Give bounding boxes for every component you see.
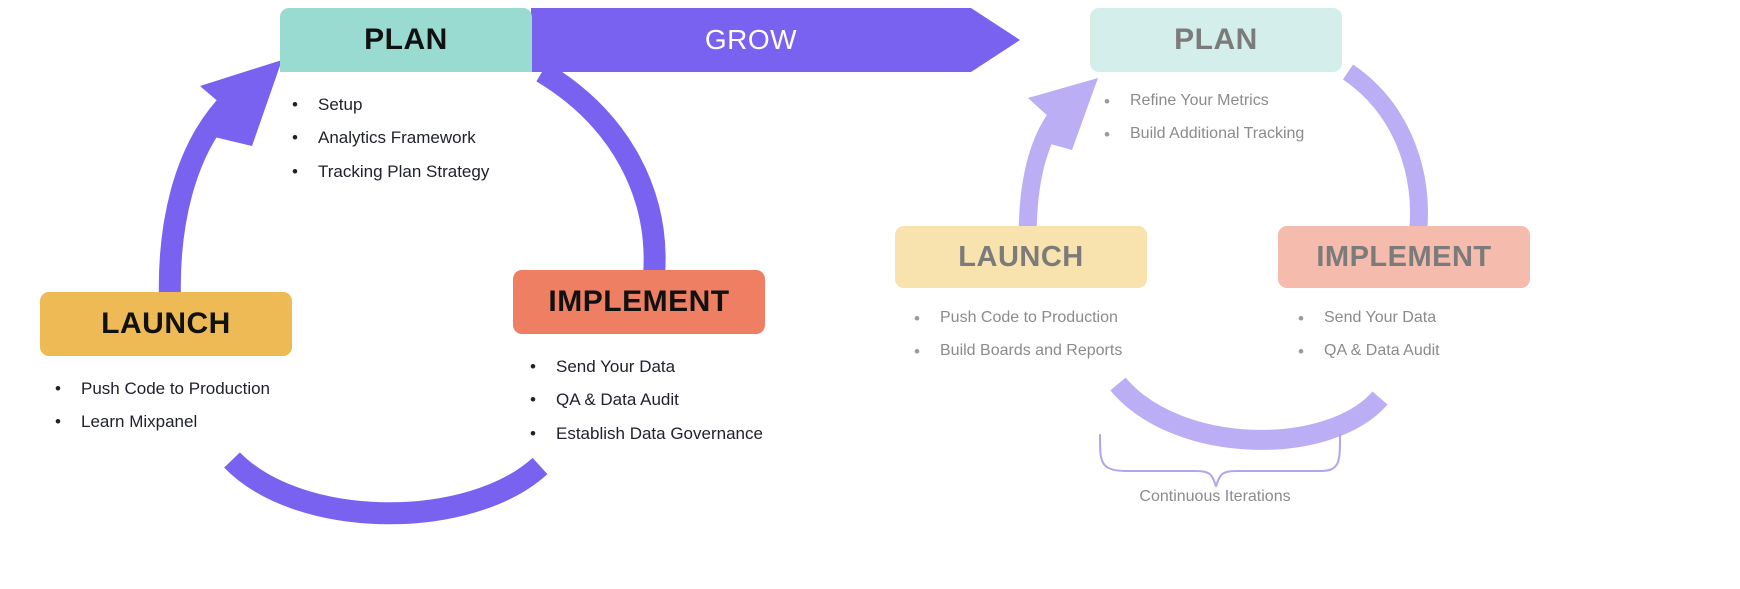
bullet-icon: • [1104, 91, 1130, 112]
bullet-icon: • [914, 341, 940, 362]
list-item: • Refine Your Metrics [1104, 91, 1342, 112]
list-item-label: Push Code to Production [940, 308, 1118, 328]
list-item: • Send Your Data [1298, 308, 1698, 329]
stage-plan-faded-items: • Refine Your Metrics • Build Additional… [1090, 91, 1342, 146]
list-item: • Push Code to Production [914, 308, 1299, 329]
stage-implement-faded[interactable]: IMPLEMENT • Send Your Data • QA & Data A… [1278, 226, 1698, 375]
bullet-icon: • [292, 94, 318, 115]
bullet-icon: • [55, 411, 81, 432]
stage-plan-faded-title: PLAN [1090, 8, 1342, 72]
grow-banner: GROW [531, 8, 1020, 72]
diagram-canvas: GROW PLAN • Setup • Analytics Framework … [0, 0, 1740, 589]
list-item-label: Refine Your Metrics [1130, 91, 1269, 111]
list-item-label: Tracking Plan Strategy [318, 161, 489, 182]
list-item-label: Push Code to Production [81, 378, 270, 399]
continuous-iterations-brace [1100, 435, 1340, 486]
arrow-implement-to-launch [232, 460, 540, 513]
list-item-label: Learn Mixpanel [81, 411, 197, 432]
bullet-icon: • [1298, 341, 1324, 362]
list-item-label: Setup [318, 94, 362, 115]
list-item: • Setup [292, 94, 532, 115]
arrow-faded-implement-to-launch [1118, 384, 1380, 440]
bullet-icon: • [530, 356, 556, 377]
bullet-icon: • [1298, 308, 1324, 329]
bullet-icon: • [530, 423, 556, 444]
list-item-label: Build Boards and Reports [940, 341, 1122, 361]
list-item-label: Establish Data Governance [556, 423, 763, 444]
bullet-icon: • [55, 378, 81, 399]
stage-plan-active-title: PLAN [280, 8, 532, 72]
bullet-icon: • [1104, 124, 1130, 145]
list-item-label: Build Additional Tracking [1130, 124, 1304, 144]
arrow-plan-to-implement [542, 72, 655, 276]
continuous-iterations-label: Continuous Iterations [1055, 488, 1375, 506]
list-item: • Build Boards and Reports [914, 341, 1299, 362]
list-item-label: Send Your Data [556, 356, 675, 377]
grow-label: GROW [531, 8, 971, 72]
list-item: • Tracking Plan Strategy [292, 161, 532, 182]
stage-plan-active[interactable]: PLAN • Setup • Analytics Framework • Tra… [280, 8, 532, 194]
bullet-icon: • [292, 161, 318, 182]
list-item-label: Analytics Framework [318, 127, 476, 148]
list-item-label: QA & Data Audit [556, 389, 679, 410]
stage-launch-active-title: LAUNCH [40, 292, 292, 356]
list-item: • Build Additional Tracking [1104, 124, 1342, 145]
list-item: • Learn Mixpanel [55, 411, 444, 432]
bullet-icon: • [914, 308, 940, 329]
list-item-label: Send Your Data [1324, 308, 1436, 328]
list-item-label: QA & Data Audit [1324, 341, 1440, 361]
stage-launch-faded-items: • Push Code to Production • Build Boards… [895, 308, 1299, 363]
arrow-launch-to-plan [170, 60, 282, 300]
list-item: • Analytics Framework [292, 127, 532, 148]
bullet-icon: • [530, 389, 556, 410]
stage-plan-active-items: • Setup • Analytics Framework • Tracking… [280, 94, 532, 182]
stage-launch-faded-title: LAUNCH [895, 226, 1147, 288]
stage-implement-active-title: IMPLEMENT [513, 270, 765, 334]
list-item: • QA & Data Audit [1298, 341, 1698, 362]
stage-plan-faded[interactable]: PLAN • Refine Your Metrics • Build Addit… [1090, 8, 1342, 158]
arrow-faded-plan-to-implement [1348, 72, 1419, 232]
list-item: • Establish Data Governance [530, 423, 973, 444]
bullet-icon: • [292, 127, 318, 148]
stage-launch-active-items: • Push Code to Production • Learn Mixpan… [40, 378, 444, 433]
list-item: • Push Code to Production [55, 378, 444, 399]
arrow-faded-launch-to-plan [1028, 78, 1098, 250]
stage-launch-active[interactable]: LAUNCH • Push Code to Production • Learn… [40, 292, 444, 445]
stage-implement-faded-items: • Send Your Data • QA & Data Audit [1278, 308, 1698, 363]
list-item: • QA & Data Audit [530, 389, 973, 410]
stage-launch-faded[interactable]: LAUNCH • Push Code to Production • Build… [895, 226, 1299, 375]
stage-implement-faded-title: IMPLEMENT [1278, 226, 1530, 288]
